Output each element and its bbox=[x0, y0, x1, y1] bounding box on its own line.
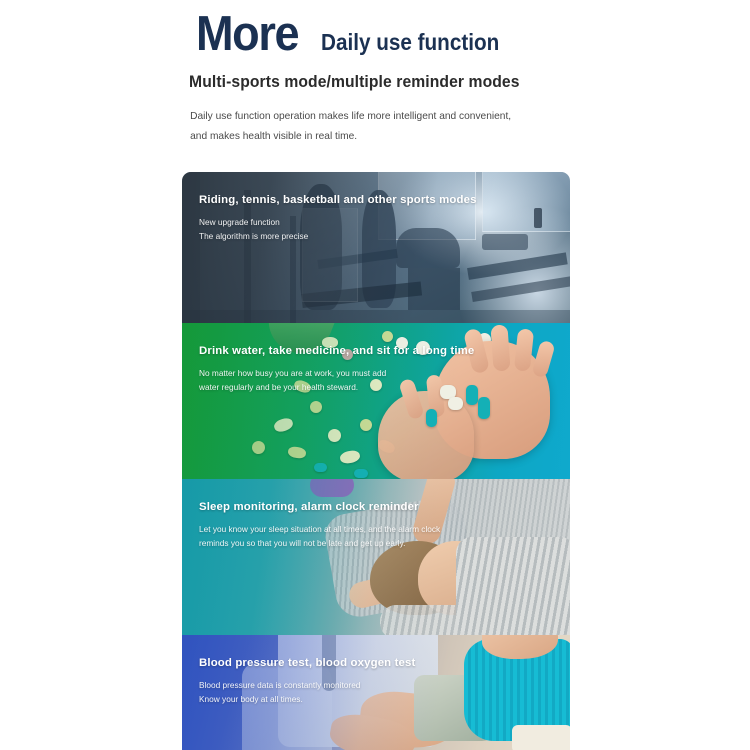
sports-title: Riding, tennis, basketball and other spo… bbox=[199, 194, 477, 206]
sleep-title: Sleep monitoring, alarm clock reminder bbox=[199, 501, 440, 513]
sleep-line-1: Let you know your sleep situation at all… bbox=[199, 522, 440, 536]
feature-panel-blood-pressure: Blood pressure test, blood oxygen test B… bbox=[182, 635, 570, 750]
bp-line-1: Blood pressure data is constantly monito… bbox=[199, 678, 415, 692]
bp-copy: Blood pressure test, blood oxygen test B… bbox=[199, 657, 415, 706]
page-title-sub: Daily use function bbox=[321, 31, 499, 54]
page-body-text: Daily use function operation makes life … bbox=[0, 106, 728, 146]
title-row: More Daily use function bbox=[0, 0, 750, 59]
sports-lines: New upgrade function The algorithm is mo… bbox=[199, 215, 477, 243]
water-copy: Drink water, take medicine, and sit for … bbox=[199, 345, 474, 394]
feature-panel-sports: Riding, tennis, basketball and other spo… bbox=[182, 172, 570, 323]
feature-panel-sleep: Sleep monitoring, alarm clock reminder L… bbox=[182, 479, 570, 635]
sports-line-1: New upgrade function bbox=[199, 215, 477, 229]
body-line-1: Daily use function operation makes life … bbox=[190, 106, 727, 126]
water-line-2: water regularly and be your health stewa… bbox=[199, 380, 474, 394]
page-header: More Daily use function Multi-sports mod… bbox=[0, 0, 750, 146]
water-line-1: No matter how busy you are at work, you … bbox=[199, 366, 474, 380]
bp-lines: Blood pressure data is constantly monito… bbox=[199, 678, 415, 706]
water-title: Drink water, take medicine, and sit for … bbox=[199, 345, 474, 357]
sports-copy: Riding, tennis, basketball and other spo… bbox=[199, 194, 477, 243]
sleep-line-2: reminds you so that you will not be late… bbox=[199, 536, 440, 550]
page-subheading: Multi-sports mode/multiple reminder mode… bbox=[0, 73, 713, 92]
sports-line-2: The algorithm is more precise bbox=[199, 229, 477, 243]
sleep-copy: Sleep monitoring, alarm clock reminder L… bbox=[199, 501, 440, 550]
sleep-lines: Let you know your sleep situation at all… bbox=[199, 522, 440, 550]
feature-panel-water: Drink water, take medicine, and sit for … bbox=[182, 323, 570, 479]
body-line-2: and makes health visible in real time. bbox=[190, 126, 727, 146]
bp-title: Blood pressure test, blood oxygen test bbox=[199, 657, 415, 669]
water-lines: No matter how busy you are at work, you … bbox=[199, 366, 474, 394]
bp-line-2: Know your body at all times. bbox=[199, 692, 415, 706]
page-title-main: More bbox=[196, 10, 298, 59]
feature-panel-stack: Riding, tennis, basketball and other spo… bbox=[182, 172, 570, 750]
